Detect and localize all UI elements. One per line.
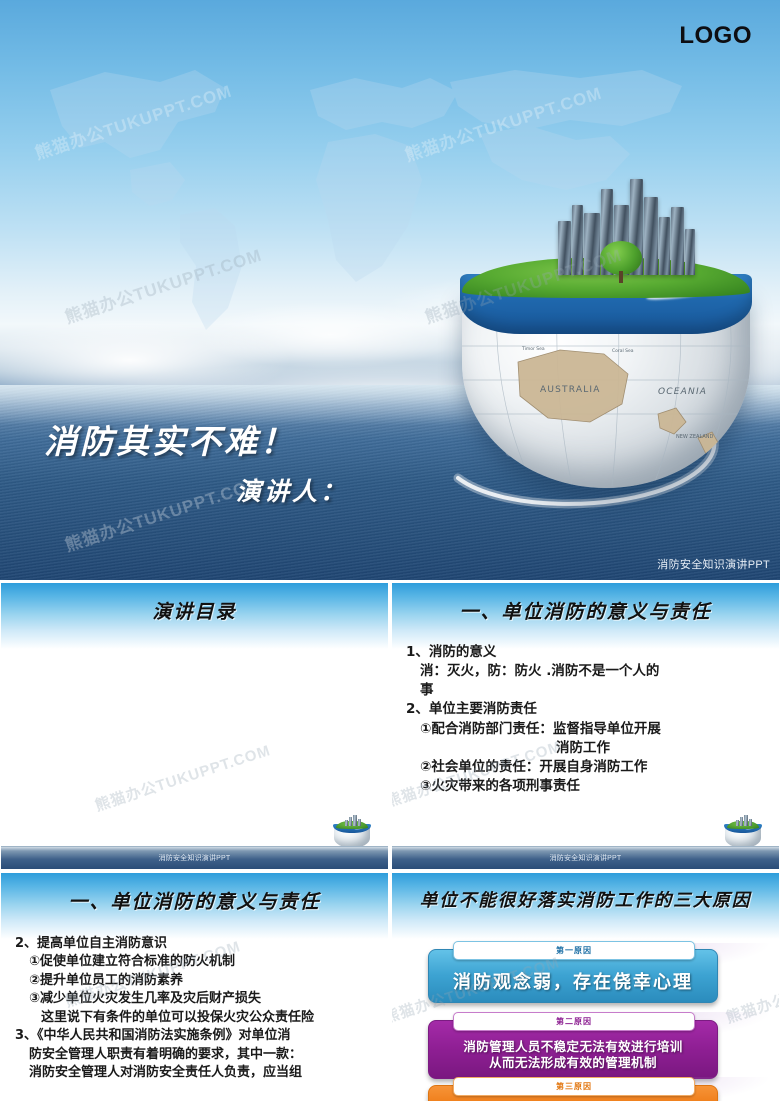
slide-4-title: 一、单位消防的意义与责任 <box>1 887 388 914</box>
body-line: 这里说下有条件的单位可以投保火灾公众责任险 <box>15 1009 380 1027</box>
body-line: ①配合消防部门责任：监督指导单位开展 <box>406 720 771 739</box>
hero-title: 消防其实不难！ <box>44 415 296 463</box>
reason-label: 第三原因 <box>453 1077 695 1096</box>
city-skyline <box>558 175 698 275</box>
mini-globe-icon <box>332 815 372 849</box>
body-line: 3、《中华人民共和国消防法实施条例》对单位消 <box>15 1027 380 1045</box>
slide-5-three-reasons: 单位不能很好落实消防工作的三大原因 第一原因 消防观念弱，存在侥幸心理 第二原因… <box>391 872 780 1102</box>
reason-card-3[interactable]: 第三原因 <box>428 1085 718 1102</box>
slide-5-title: 单位不能很好落实消防工作的三大原因 <box>392 887 779 912</box>
slide-3-meaning-responsibility: 一、单位消防的意义与责任 1、消防的意义 消：灭火，防：防火 .消防不是一个人的… <box>391 582 780 870</box>
body-line: 消防工作 <box>406 739 771 758</box>
body-line: 2、单位主要消防责任 <box>406 700 771 719</box>
slide-3-title: 一、单位消防的意义与责任 <box>392 597 779 624</box>
slide-4-body: 2、提高单位自主消防意识 ①促使单位建立符合标准的防火机制 ②提升单位员工的消防… <box>15 935 380 1083</box>
reason-card-1[interactable]: 第一原因 消防观念弱，存在侥幸心理 <box>428 949 718 1003</box>
slide-4-awareness: 一、单位消防的意义与责任 2、提高单位自主消防意识 ①促使单位建立符合标准的防火… <box>0 872 389 1102</box>
slide-footer-label: 消防安全知识演讲PPT <box>550 853 622 863</box>
body-line: 1、消防的意义 <box>406 643 771 662</box>
hero-footer-label: 消防安全知识演讲PPT <box>657 556 770 572</box>
body-line: 消：灭火，防：防火 .消防不是一个人的 <box>406 662 771 681</box>
body-line: 2、提高单位自主消防意识 <box>15 935 380 953</box>
svg-text:Coral Sea: Coral Sea <box>612 348 634 354</box>
reason-label: 第二原因 <box>453 1012 695 1031</box>
body-line: ②提升单位员工的消防素养 <box>15 972 380 990</box>
slide-1-hero: AUSTRALIA OCEANIA NEW ZEALAND Timor Sea … <box>0 0 780 580</box>
slide-footer: 消防安全知识演讲PPT <box>392 847 779 869</box>
slide-3-body: 1、消防的意义 消：灭火，防：防火 .消防不是一个人的 事 2、单位主要消防责任… <box>406 643 771 796</box>
body-line: 消防安全管理人对消防安全责任人负责，应当组 <box>15 1064 380 1082</box>
presentation-page: AUSTRALIA OCEANIA NEW ZEALAND Timor Sea … <box>0 0 780 1102</box>
reason-text: 消防管理人员不稳定无法有效进行培训 从而无法形成有效的管理机制 <box>439 1039 707 1070</box>
slide-2-agenda: 演讲目录 @ 一、单位消防责任与意义 <box>0 582 389 870</box>
mini-globe-icon <box>723 815 763 849</box>
globe-island-illustration: AUSTRALIA OCEANIA NEW ZEALAND Timor Sea … <box>440 170 770 500</box>
body-line: 事 <box>406 681 771 700</box>
body-line: ①促使单位建立符合标准的防火机制 <box>15 953 380 971</box>
slide-footer-label: 消防安全知识演讲PPT <box>159 853 231 863</box>
reason-label: 第一原因 <box>453 941 695 960</box>
body-line: ②社会单位的责任：开展自身消防工作 <box>406 758 771 777</box>
body-line: 防安全管理人职责有着明确的要求，其中一款： <box>15 1046 380 1064</box>
slide-2-title: 演讲目录 <box>1 597 388 624</box>
body-line: ③减少单位火灾发生几率及灾后财产损失 <box>15 990 380 1008</box>
watermark: 熊猫办公TUKUPPT.COM <box>92 739 273 816</box>
slide-footer: 消防安全知识演讲PPT <box>1 847 388 869</box>
svg-text:Timor Sea: Timor Sea <box>521 346 545 352</box>
logo: LOGO <box>679 22 752 50</box>
svg-text:OCEANIA: OCEANIA <box>658 387 707 397</box>
svg-text:AUSTRALIA: AUSTRALIA <box>540 385 601 395</box>
tree-icon <box>600 241 642 283</box>
body-line: ③火灾带来的各项刑事责任 <box>406 777 771 796</box>
reason-text: 消防观念弱，存在侥幸心理 <box>439 968 707 994</box>
reason-card-2[interactable]: 第二原因 消防管理人员不稳定无法有效进行培训 从而无法形成有效的管理机制 <box>428 1020 718 1079</box>
hero-subtitle: 演讲人： <box>236 472 348 508</box>
svg-text:NEW ZEALAND: NEW ZEALAND <box>676 434 713 440</box>
